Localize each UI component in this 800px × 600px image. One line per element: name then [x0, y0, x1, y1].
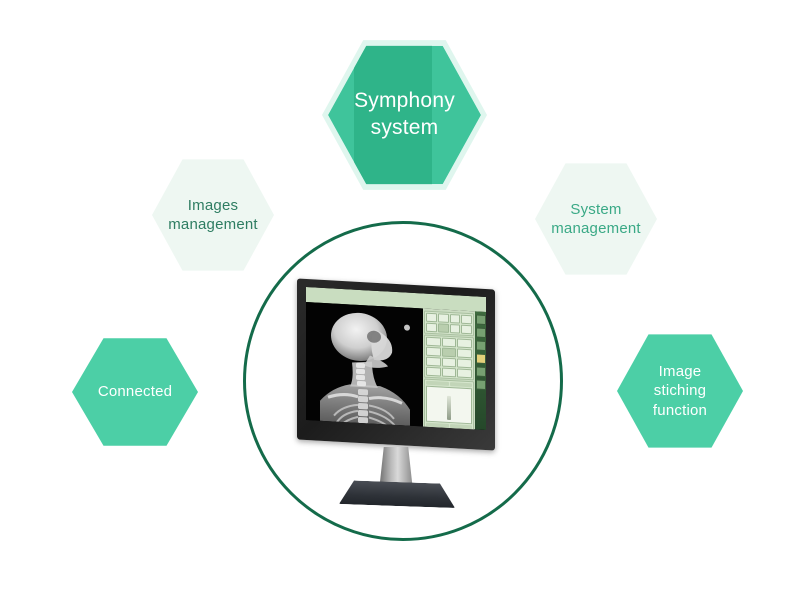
- control-button[interactable]: [442, 358, 457, 368]
- screen-body: [306, 302, 486, 430]
- node-label-images-management: Images management: [162, 196, 264, 234]
- node-label-connected: Connected: [92, 382, 178, 401]
- acquisition-control-panel[interactable]: [423, 309, 475, 430]
- control-button[interactable]: [461, 325, 472, 335]
- control-button[interactable]: [457, 348, 472, 358]
- rail-button[interactable]: [476, 314, 486, 325]
- control-button[interactable]: [442, 338, 457, 348]
- control-button[interactable]: [426, 323, 437, 333]
- xray-image-viewport: [306, 302, 423, 427]
- side-toolbar-rail[interactable]: [475, 311, 486, 430]
- control-button[interactable]: [426, 313, 437, 323]
- rail-button-active[interactable]: [476, 353, 486, 364]
- control-button[interactable]: [442, 348, 457, 358]
- node-label-image-stiching-function: Image stiching function: [647, 362, 713, 420]
- control-group-top[interactable]: [424, 311, 474, 337]
- control-button[interactable]: [438, 313, 449, 323]
- rail-button[interactable]: [476, 379, 486, 390]
- control-group-tools[interactable]: [424, 335, 474, 381]
- control-button[interactable]: [426, 357, 441, 367]
- node-label-system-management: System management: [545, 200, 647, 238]
- thumbnail-spine-graphic: [447, 396, 451, 420]
- control-button[interactable]: [438, 323, 449, 333]
- control-button[interactable]: [442, 368, 457, 378]
- control-button[interactable]: [426, 367, 441, 377]
- node-connected[interactable]: Connected: [72, 336, 198, 448]
- xray-radiograph-icon: [312, 304, 418, 426]
- monitor-illustration: [297, 284, 497, 506]
- control-button[interactable]: [426, 337, 441, 347]
- diagram-canvas: Symphony system Images management System…: [0, 0, 800, 600]
- node-system-management[interactable]: System management: [535, 161, 657, 277]
- control-button[interactable]: [461, 315, 472, 325]
- control-button[interactable]: [457, 368, 472, 378]
- control-button[interactable]: [450, 314, 461, 324]
- node-images-management[interactable]: Images management: [152, 157, 274, 273]
- preview-chip: [450, 424, 473, 429]
- rail-button[interactable]: [476, 340, 486, 351]
- control-button[interactable]: [457, 358, 472, 368]
- image-thumbnail[interactable]: [426, 386, 472, 425]
- rail-button[interactable]: [476, 366, 486, 377]
- control-button[interactable]: [457, 338, 472, 348]
- monitor-bezel: [297, 278, 495, 450]
- control-button[interactable]: [426, 347, 441, 357]
- control-button[interactable]: [450, 324, 461, 334]
- rail-button[interactable]: [476, 327, 486, 338]
- node-label-symphony-system: Symphony system: [348, 88, 461, 142]
- monitor-stand-base: [339, 480, 455, 508]
- control-group-preview[interactable]: [424, 379, 474, 430]
- node-image-stiching-function[interactable]: Image stiching function: [617, 332, 743, 450]
- monitor-screen: [306, 287, 486, 430]
- preview-chip: [426, 423, 449, 428]
